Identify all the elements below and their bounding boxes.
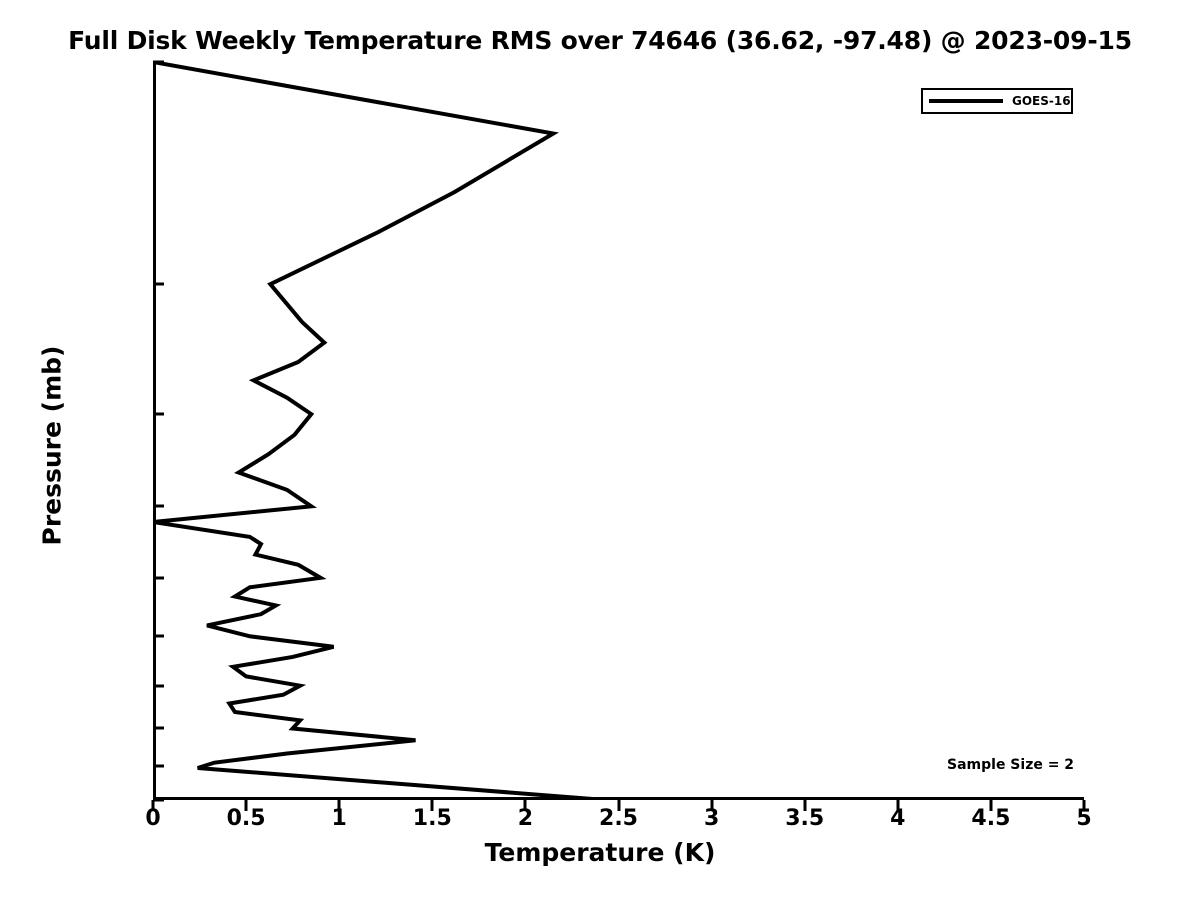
x-tick-mark xyxy=(431,800,434,811)
y-tick-mark xyxy=(153,283,164,286)
y-tick-mark xyxy=(153,576,164,579)
plot-canvas xyxy=(153,62,1084,800)
x-tick-mark xyxy=(245,800,248,811)
plot-figure: Full Disk Weekly Temperature RMS over 74… xyxy=(0,0,1200,900)
data-line-svg xyxy=(153,62,1084,800)
x-tick-mark xyxy=(989,800,992,811)
x-tick-mark xyxy=(803,800,806,811)
x-tick-mark xyxy=(896,800,899,811)
x-axis-label: Temperature (K) xyxy=(0,838,1200,867)
x-tick-mark xyxy=(710,800,713,811)
y-tick-mark xyxy=(153,61,164,64)
legend-line-swatch xyxy=(929,99,1003,103)
x-tick-mark xyxy=(617,800,620,811)
x-tick-mark xyxy=(152,800,155,811)
y-tick-mark xyxy=(153,684,164,687)
x-tick-mark xyxy=(338,800,341,811)
legend: GOES-16 xyxy=(921,88,1073,114)
series-goes-16-line xyxy=(153,62,605,800)
y-tick-mark xyxy=(153,765,164,768)
legend-entry-label: GOES-16 xyxy=(1012,94,1071,108)
y-tick-mark xyxy=(153,413,164,416)
y-tick-mark xyxy=(153,635,164,638)
y-tick-mark xyxy=(153,505,164,508)
x-tick-mark xyxy=(524,800,527,811)
y-tick-mark xyxy=(153,727,164,730)
y-tick-mark xyxy=(153,799,164,802)
y-axis-label: Pressure (mb) xyxy=(38,196,67,696)
page-title: Full Disk Weekly Temperature RMS over 74… xyxy=(0,26,1200,55)
x-tick-mark xyxy=(1083,800,1086,811)
sample-size-annotation: Sample Size = 2 xyxy=(947,757,1074,773)
